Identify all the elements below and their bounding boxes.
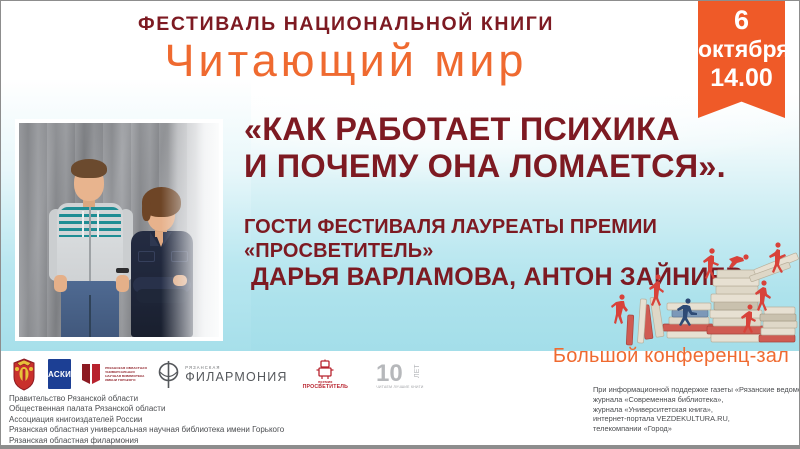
philharmonia-mark-icon: [156, 360, 181, 389]
svg-text:ЛЕТ: ЛЕТ: [414, 363, 421, 377]
library-book-icon: [80, 361, 102, 387]
prosvetitel-label-big: ПРОСВЕТИТЕЛЬ: [303, 384, 348, 390]
media-support-item: интернет-портала VEZDEKULTURA.RU,: [593, 414, 798, 424]
philharmonia-label-big: ФИЛАРМОНИЯ: [185, 370, 287, 384]
festival-kicker: ФЕСТИВАЛЬ НАЦИОНАЛЬНОЙ КНИГИ: [1, 13, 691, 36]
prosvetitel-robot-icon: [315, 359, 335, 380]
gorky-library-logo: РЯЗАНСКАЯ ОБЛАСТНАЯ УНИВЕРСАЛЬНАЯ НАУЧНА…: [80, 361, 147, 387]
festival-name: Читающий мир: [1, 35, 691, 87]
logo-strip: АСКИ РЯЗАНСКАЯ ОБЛАСТНАЯ УНИВЕРСАЛЬНАЯ Н…: [9, 356, 369, 392]
speakers-photo: [15, 119, 223, 341]
media-support-item: При информационной поддержке газеты «Ряз…: [593, 385, 798, 395]
headline: «КАК РАБОТАЕТ ПСИХИКА И ПОЧЕМУ ОНА ЛОМАЕ…: [244, 111, 789, 185]
organizer-item: Рязанская областная универсальная научна…: [9, 425, 429, 435]
prosvetitel-logo: премия ПРОСВЕТИТЕЛЬ: [303, 359, 348, 390]
hall-label: Большой конференц-зал: [521, 345, 789, 368]
ryazan-coat-of-arms-icon: [9, 357, 39, 391]
date-badge: 6 октября 14.00: [698, 1, 785, 118]
media-support-item: журнала «Современная библиотека»,: [593, 395, 798, 405]
books-illustration: [601, 239, 800, 353]
photo-image: [19, 123, 219, 337]
philharmonia-logo: РЯЗАНСКАЯ ФИЛАРМОНИЯ: [156, 360, 287, 389]
library-logo-label: РЯЗАНСКАЯ ОБЛАСТНАЯ УНИВЕРСАЛЬНАЯ НАУЧНА…: [105, 366, 147, 383]
media-support-list: При информационной поддержке газеты «Ряз…: [593, 385, 798, 434]
aski-logo-icon: АСКИ: [48, 359, 71, 389]
date-day: 6: [698, 5, 785, 35]
ten-years-label: ЧИТАЕМ ЛУЧШИЕ КНИГИ: [376, 385, 423, 389]
bottom-rule: [1, 445, 800, 448]
organizer-item: Правительство Рязанской области: [9, 394, 429, 404]
photo-person-man: [49, 155, 133, 337]
headline-line-2: И ПОЧЕМУ ОНА ЛОМАЕТСЯ».: [244, 148, 789, 185]
photo-person-woman: [123, 185, 201, 337]
ten-years-icon: 10 ЛЕТ: [376, 360, 424, 385]
organizer-item: Ассоциация книгоиздателей России: [9, 415, 429, 425]
svg-text:10: 10: [376, 360, 403, 385]
organizers-list: Правительство Рязанской области Обществе…: [9, 394, 429, 446]
media-support-item: журнала «Университетская книга»,: [593, 405, 798, 415]
ten-years-logo: 10 ЛЕТ ЧИТАЕМ ЛУЧШИЕ КНИГИ: [376, 360, 424, 389]
media-support-item: телекомпании «Город»: [593, 424, 798, 434]
date-time: 14.00: [698, 63, 785, 93]
organizer-item: Общественная палата Рязанской области: [9, 404, 429, 414]
date-month: октября: [698, 35, 785, 63]
headline-line-1: «КАК РАБОТАЕТ ПСИХИКА: [244, 111, 789, 148]
aski-logo-label: АСКИ: [48, 370, 71, 379]
poster-root: ФЕСТИВАЛЬ НАЦИОНАЛЬНОЙ КНИГИ Читающий ми…: [0, 0, 800, 449]
